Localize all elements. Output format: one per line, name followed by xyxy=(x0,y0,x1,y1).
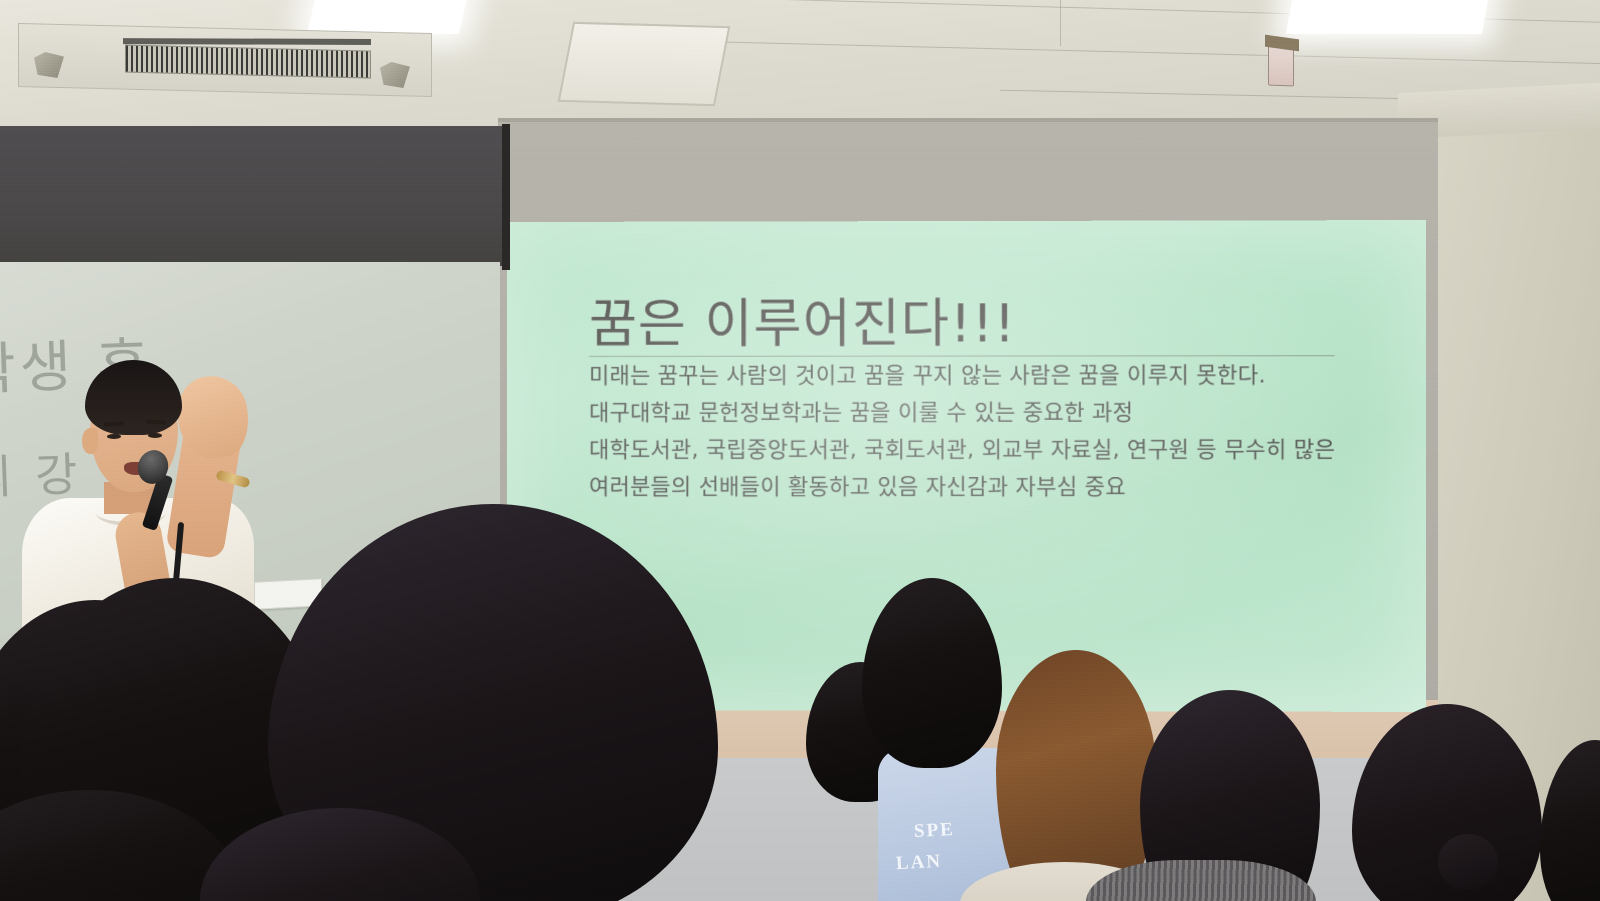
slide-body-line: 미래는 꿈꾸는 사람의 것이고 꿈을 꾸지 않는 사람은 꿈을 이루지 못한다. xyxy=(589,365,1396,388)
ceiling-diffuser-panel xyxy=(558,22,731,106)
speaker-eye xyxy=(148,433,162,438)
ac-grille-icon xyxy=(125,45,371,79)
ceiling-tile-line xyxy=(1060,0,1061,46)
ceiling-light-icon xyxy=(307,0,469,34)
ceiling xyxy=(0,0,1600,132)
speaker-hair xyxy=(85,360,182,435)
slide-body-line: 대학도서관, 국립중앙도서관, 국회도서관, 외교부 자료실, 연구원 등 무수… xyxy=(589,440,1396,462)
audience-head xyxy=(862,578,1002,768)
audience: SPE LAN xyxy=(0,490,1600,901)
audience-hair-bun xyxy=(1438,834,1498,890)
speaker-eye xyxy=(107,434,121,439)
ceiling-tile-line xyxy=(700,41,1600,64)
lecture-hall-photo: 꿈은 이루어진다!!! 미래는 꿈꾸는 사람의 것이고 꿈을 꾸지 않는 사람은… xyxy=(0,0,1600,901)
shirt-text-line2: LAN xyxy=(895,851,942,875)
slide-divider xyxy=(589,355,1335,357)
slide-title: 꿈은 이루어진다!!! xyxy=(589,281,1016,357)
ceiling-light-icon xyxy=(1286,0,1490,34)
audience-head xyxy=(1540,740,1600,901)
shirt-text-line1: SPE xyxy=(913,819,955,843)
speaker-ear xyxy=(82,428,98,454)
air-conditioner-unit xyxy=(18,23,432,97)
ac-blade xyxy=(123,38,371,45)
dark-ceiling-beam xyxy=(0,126,510,266)
slide-body-line: 대구대학교 문헌정보학과는 꿈을 이룰 수 있는 중요한 과정 xyxy=(589,403,1396,425)
ceiling-speaker-icon xyxy=(1268,44,1294,87)
